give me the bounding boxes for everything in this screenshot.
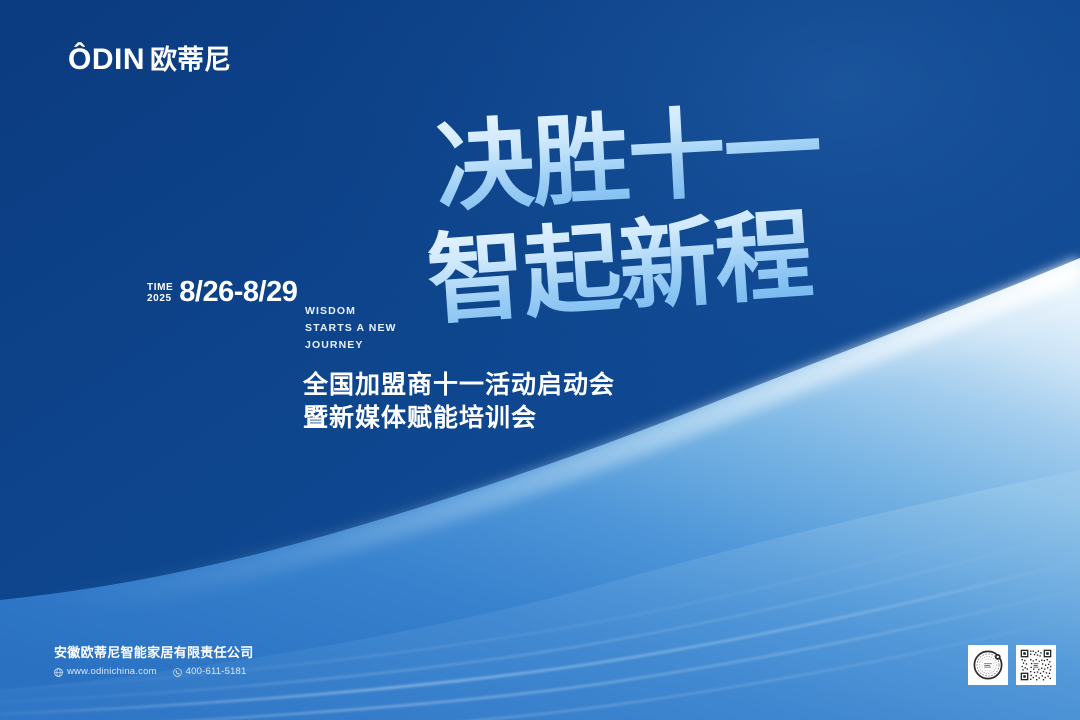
brand-logo-chinese: 欧蒂尼 — [150, 47, 231, 74]
tagline-line-2: STARTS A NEW — [305, 320, 397, 337]
wechat-official-account-code[interactable] — [968, 645, 1008, 685]
brand-logo-latin: ÔDIN — [68, 45, 145, 75]
qr-code[interactable] — [1016, 645, 1056, 685]
website-text: www.odinichina.com — [67, 666, 157, 678]
website-contact: www.odinichina.com — [54, 666, 157, 678]
time-label: TIME 2025 — [147, 282, 173, 304]
phone-text: 400-611-5181 — [186, 666, 247, 678]
tagline-line-3: JOURNEY — [305, 337, 397, 354]
phone-contact: 400-611-5181 — [173, 666, 247, 678]
background-artwork — [0, 0, 1080, 720]
time-label-year: 2025 — [147, 293, 173, 304]
footer: 安徽欧蒂尼智能家居有限责任公司 www.odinichina.com 400-6… — [54, 645, 254, 678]
event-subtitle: 全国加盟商十一活动启动会 暨新媒体赋能培训会 — [303, 368, 615, 434]
company-name: 安徽欧蒂尼智能家居有限责任公司 — [54, 645, 254, 662]
subtitle-line-2: 暨新媒体赋能培训会 — [303, 401, 615, 434]
english-tagline: WISDOM STARTS A NEW JOURNEY — [305, 303, 397, 354]
time-label-word: TIME — [147, 282, 173, 293]
event-date: TIME 2025 8/26-8/29 — [147, 277, 297, 307]
phone-icon — [173, 668, 182, 677]
globe-icon — [54, 668, 63, 677]
qr-code-group — [968, 645, 1056, 685]
brand-logo: ÔDIN 欧蒂尼 — [68, 45, 231, 75]
event-poster: ÔDIN 欧蒂尼 决胜十一 智起新程 TIME 2025 8/26-8/29 — [0, 0, 1080, 720]
footer-contacts: www.odinichina.com 400-611-5181 — [54, 666, 254, 678]
subtitle-line-1: 全国加盟商十一活动启动会 — [303, 368, 615, 401]
tagline-line-1: WISDOM — [305, 303, 397, 320]
date-range: 8/26-8/29 — [179, 277, 297, 307]
